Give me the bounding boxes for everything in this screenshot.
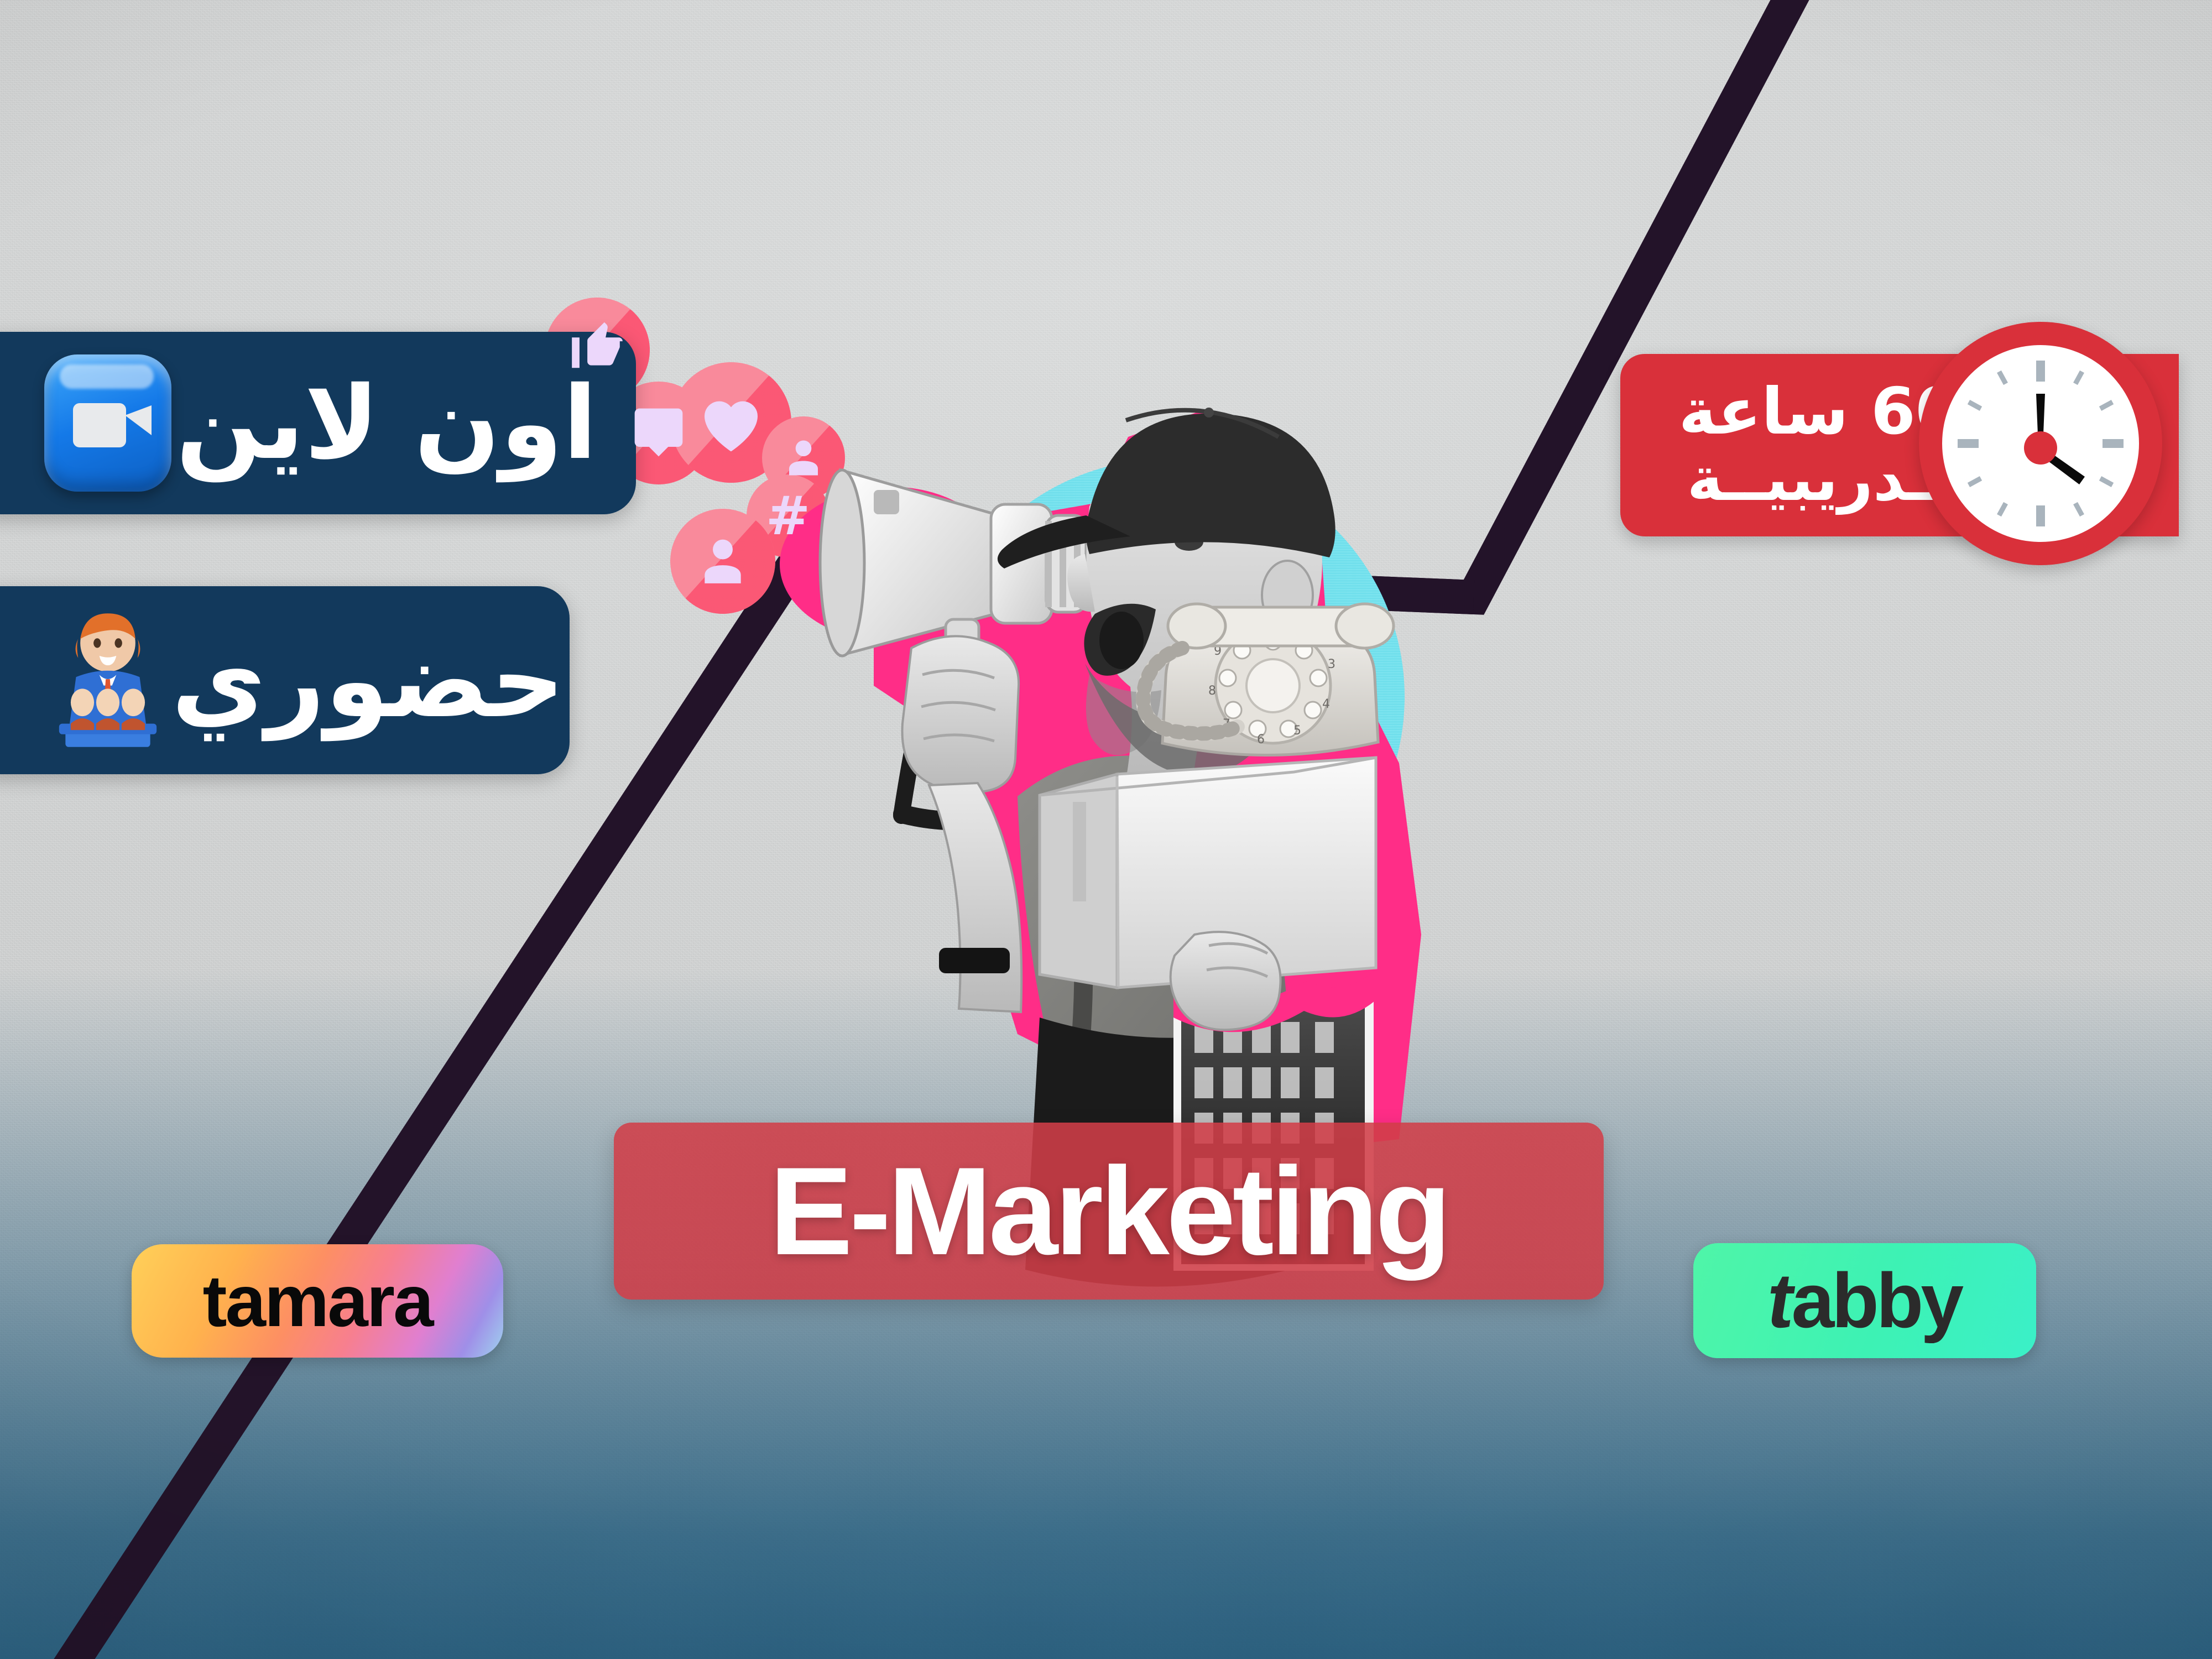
hashtag-icon: # <box>766 489 810 542</box>
thumbs-up-icon <box>567 315 628 385</box>
background-vignette <box>0 0 2212 1659</box>
user-icon <box>696 533 750 591</box>
chat-icon <box>630 404 687 463</box>
heart-icon <box>696 389 766 457</box>
marketing-poster: # <box>0 0 2212 1659</box>
user-icon <box>782 435 825 482</box>
